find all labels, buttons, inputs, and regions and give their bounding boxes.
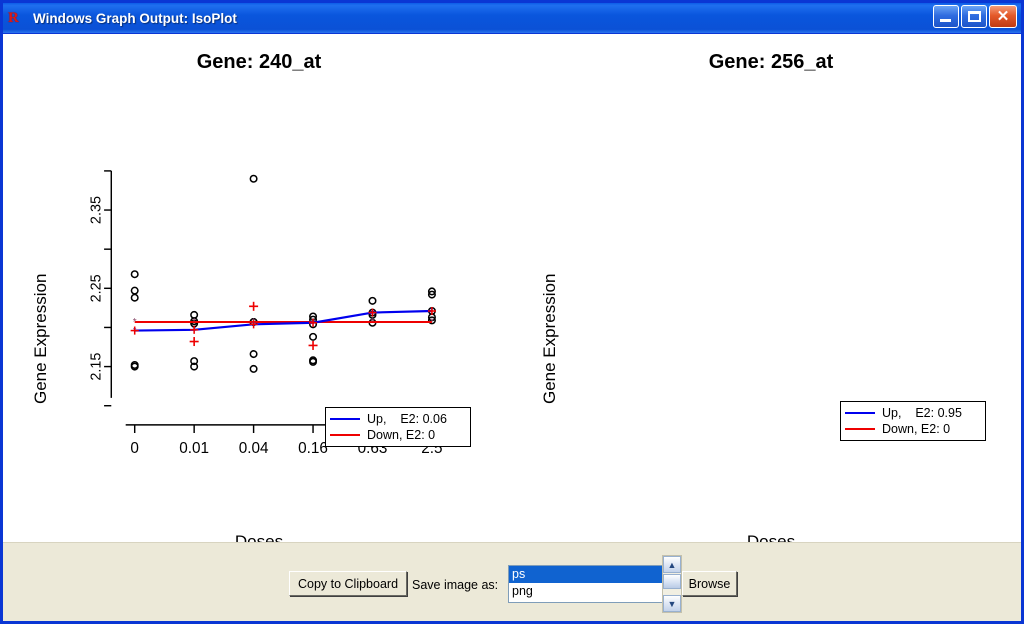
- legend-right: Up, E2: 0.95 Down, E2: 0: [840, 401, 986, 441]
- format-option-ps[interactable]: ps: [509, 566, 662, 583]
- format-option-png[interactable]: png: [509, 583, 662, 600]
- maximize-button[interactable]: [961, 5, 987, 28]
- svg-text:0.01: 0.01: [179, 440, 209, 457]
- legend-label-up: Up, E2: 0.06: [367, 412, 447, 426]
- browse-button[interactable]: Browse: [682, 571, 737, 596]
- image-format-listbox[interactable]: ps png: [508, 565, 663, 603]
- window-title: Windows Graph Output: IsoPlot: [33, 11, 237, 26]
- format-listbox-scrollbar[interactable]: ▲ ▼: [662, 555, 682, 613]
- plot-canvas: Gene: 240_at Gene Expression Doses 2.152…: [3, 34, 1021, 542]
- close-button[interactable]: ✕: [989, 5, 1017, 28]
- legend-swatch-up-icon: [845, 412, 875, 414]
- legend-row-down: Down, E2: 0: [330, 427, 464, 443]
- svg-text:2.15: 2.15: [89, 353, 105, 381]
- legend-label-down: Down, E2: 0: [882, 422, 950, 436]
- legend-swatch-down-icon: [330, 434, 360, 436]
- minimize-button[interactable]: [933, 5, 959, 28]
- bottom-toolbar: Copy to Clipboard Save image as: ps png …: [3, 542, 1021, 621]
- save-image-as-label: Save image as:: [412, 578, 498, 592]
- legend-label-up: Up, E2: 0.95: [882, 406, 962, 420]
- svg-text:2.35: 2.35: [89, 196, 105, 224]
- svg-text:0: 0: [130, 440, 139, 457]
- scroll-down-arrow-icon[interactable]: ▼: [663, 595, 681, 612]
- plot-gene-240-at: Gene: 240_at Gene Expression Doses 2.152…: [3, 34, 515, 542]
- plot-gene-256-at: Gene: 256_at Gene Expression Doses 67891…: [515, 34, 1021, 542]
- svg-text:*: *: [430, 317, 434, 328]
- legend-row-down: Down, E2: 0: [845, 421, 979, 437]
- svg-text:*: *: [371, 317, 375, 328]
- legend-row-up: Up, E2: 0.95: [845, 405, 979, 421]
- legend-swatch-down-icon: [845, 428, 875, 430]
- legend-label-down: Down, E2: 0: [367, 428, 435, 442]
- title-bar: R Windows Graph Output: IsoPlot ✕: [3, 3, 1021, 34]
- scroll-up-arrow-icon[interactable]: ▲: [663, 556, 681, 573]
- graph-output-window: R Windows Graph Output: IsoPlot ✕ Gene: …: [0, 0, 1024, 624]
- legend-left: Up, E2: 0.06 Down, E2: 0: [325, 407, 471, 447]
- plot-data-right: 67891000.010.040.160.632.5************: [515, 34, 1021, 542]
- legend-swatch-up-icon: [330, 418, 360, 420]
- plot-data-left: 2.152.252.3500.010.040.160.632.5********…: [3, 34, 515, 542]
- svg-text:0.16: 0.16: [298, 440, 328, 457]
- scrollbar-thumb[interactable]: [663, 574, 681, 589]
- svg-text:0.04: 0.04: [239, 440, 269, 457]
- copy-to-clipboard-button[interactable]: Copy to Clipboard: [289, 571, 407, 596]
- legend-row-up: Up, E2: 0.06: [330, 411, 464, 427]
- r-logo-icon: R: [8, 9, 28, 27]
- svg-text:2.25: 2.25: [89, 274, 105, 302]
- window-controls: ✕: [933, 5, 1017, 28]
